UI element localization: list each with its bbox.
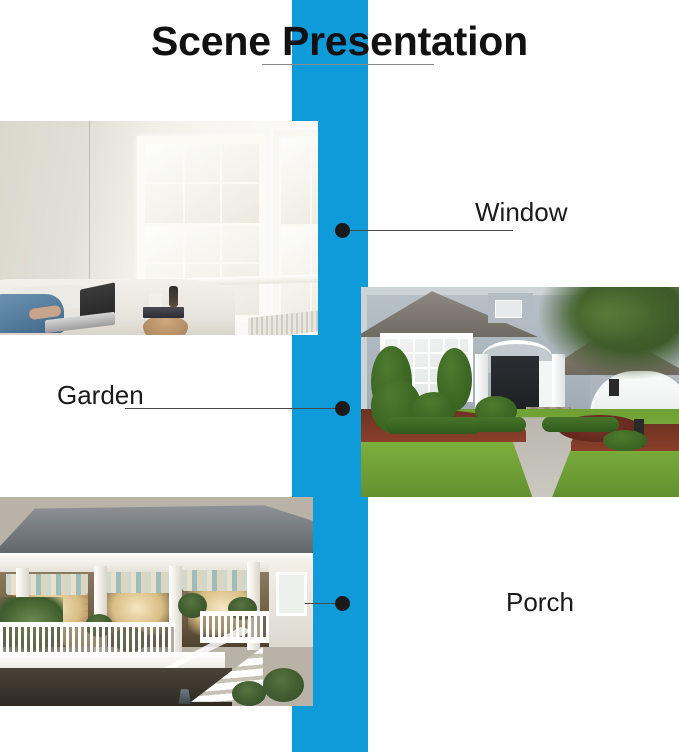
window-pane-upper [143,142,261,225]
awning [182,570,257,591]
nightstand [143,316,188,335]
callout-label-porch: Porch [506,587,574,618]
callout-dot-window[interactable] [335,223,350,238]
scene-image-garden[interactable] [361,287,679,497]
muntin [310,138,312,224]
window-frame-right [273,130,318,322]
hedge [475,417,526,432]
awning [106,572,175,593]
hedge [542,417,618,432]
garden-scene-art [361,287,679,497]
window-pane-lower [279,225,318,319]
window-scene-art [0,121,318,335]
muntin [145,182,259,184]
porch-scene-art [0,497,313,706]
title-underline [262,64,434,65]
leader-line-porch [305,603,337,604]
muntin [145,262,259,264]
shrub [603,430,648,451]
hedge [386,417,481,434]
presentation-slide: Scene Presentation [0,0,679,752]
books [143,307,184,318]
page-title: Scene Presentation [0,18,679,65]
leader-line-garden [125,408,343,409]
muntin [310,227,312,317]
dormer-window [495,300,522,319]
shrub [263,668,304,701]
callout-dot-porch[interactable] [335,596,350,611]
scene-image-window[interactable] [0,121,318,335]
shrub [232,681,266,706]
wall-lamp [609,379,619,396]
mug [149,294,162,307]
callout-label-garden: Garden [57,380,144,411]
porch-roof [0,505,313,559]
callout-dot-garden[interactable] [335,401,350,416]
scene-image-porch[interactable] [0,497,313,706]
window-pane-upper [279,136,318,226]
tree-canopy-secondary [558,287,653,346]
side-window [276,572,307,616]
callout-label-window: Window [475,197,567,228]
leader-line-window [349,230,513,231]
vase [169,286,179,307]
